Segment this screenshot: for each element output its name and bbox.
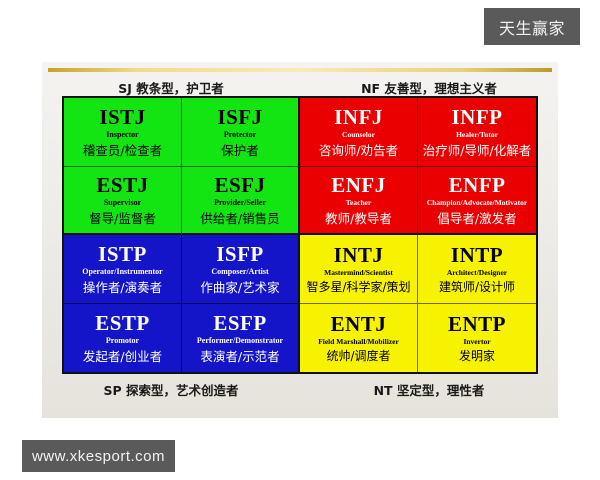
mbti-chart-card: SJ 教条型，护卫者 NF 友善型，理想主义者 ISTJInspector稽查员…: [42, 62, 558, 418]
mbti-cell-enfp[interactable]: ENFPChampion/Advocate/Motivator倡导者/激发者: [418, 167, 536, 236]
mbti-cell-esfp[interactable]: ESFPPerformer/Demonstrator表演者/示范者: [182, 304, 300, 373]
mbti-role-zh: 作曲家/艺术家: [200, 281, 279, 295]
mbti-type-matrix: ISTJInspector稽查员/检查者ISFJProtector保护者INFJ…: [62, 96, 538, 374]
mbti-code: INFJ: [334, 106, 383, 128]
mbti-cell-isfj[interactable]: ISFJProtector保护者: [182, 98, 300, 167]
mbti-role-zh: 统帅/调度者: [326, 350, 390, 363]
mbti-code: ESFP: [213, 312, 266, 334]
mbti-role-zh: 倡导者/激发者: [437, 212, 516, 226]
mbti-code: ISTP: [98, 243, 147, 265]
mbti-role-zh: 建筑师/设计师: [439, 281, 515, 294]
mbti-code: ESTJ: [96, 174, 148, 196]
mbti-cell-enfj[interactable]: ENFJTeacher教师/教导者: [300, 167, 418, 236]
mbti-code: INTP: [451, 244, 503, 266]
mbti-code: ISTJ: [99, 106, 145, 128]
group-header-nt: NT 坚定型，理性者: [300, 380, 558, 402]
mbti-role-zh: 咨询师/劝告者: [319, 144, 398, 158]
mbti-cell-intp[interactable]: INTPArchitect/Designer建筑师/设计师: [418, 235, 536, 304]
mbti-code: ISFP: [216, 243, 264, 265]
mbti-role-en: Champion/Advocate/Motivator: [427, 199, 527, 207]
group-header-row-bottom: SP 探索型，艺术创造者 NT 坚定型，理性者: [42, 380, 558, 402]
mbti-role-zh: 保护者: [221, 144, 259, 158]
mbti-role-zh: 表演者/示范者: [200, 350, 279, 364]
mbti-role-en: Supervisor: [104, 199, 141, 208]
mbti-role-zh: 智多星/科学家/策划: [306, 281, 410, 294]
mbti-code: ENTJ: [331, 313, 387, 335]
mbti-cell-infp[interactable]: INFPHealer/Tutor治疗师/导师/化解者: [418, 98, 536, 167]
mbti-cell-entp[interactable]: ENTPInvertor发明家: [418, 304, 536, 373]
mbti-cell-istj[interactable]: ISTJInspector稽查员/检查者: [64, 98, 182, 167]
mbti-role-en: Protector: [224, 131, 256, 140]
mbti-cell-intj[interactable]: INTJMastermind/Scientist智多星/科学家/策划: [300, 235, 418, 304]
mbti-code: INTJ: [334, 244, 384, 266]
mbti-role-zh: 操作者/演奏者: [83, 281, 162, 295]
group-header-sp: SP 探索型，艺术创造者: [42, 380, 300, 402]
mbti-cell-istp[interactable]: ISTPOperator/Instrumentor操作者/演奏者: [64, 235, 182, 304]
mbti-cell-esfj[interactable]: ESFJProvider/Seller供给者/销售员: [182, 167, 300, 236]
gold-accent-bar: [48, 68, 552, 72]
mbti-role-zh: 发明家: [459, 350, 495, 363]
mbti-code: ENFJ: [331, 174, 386, 196]
mbti-code: ENTP: [448, 313, 506, 335]
mbti-code: ESFJ: [214, 174, 265, 196]
mbti-cell-infj[interactable]: INFJCounselor咨询师/劝告者: [300, 98, 418, 167]
mbti-role-en: Performer/Demonstrator: [197, 337, 283, 346]
mbti-role-en: Promotor: [106, 337, 139, 346]
mbti-role-zh: 发起者/创业者: [83, 350, 162, 364]
mbti-role-en: Field Marshall/Mobilizer: [318, 338, 399, 346]
watermark-top-right: 天生赢家: [484, 8, 580, 45]
mbti-role-zh: 供给者/销售员: [200, 212, 279, 226]
mbti-role-en: Invertor: [463, 338, 490, 346]
mbti-cell-estp[interactable]: ESTPPromotor发起者/创业者: [64, 304, 182, 373]
mbti-role-en: Healer/Tutor: [456, 131, 498, 139]
mbti-role-en: Provider/Seller: [214, 199, 266, 208]
mbti-role-zh: 教师/教导者: [325, 212, 392, 226]
mbti-role-en: Mastermind/Scientist: [324, 269, 393, 277]
mbti-cell-entj[interactable]: ENTJField Marshall/Mobilizer统帅/调度者: [300, 304, 418, 373]
mbti-role-en: Architect/Designer: [447, 269, 507, 277]
mbti-role-en: Composer/Artist: [211, 268, 268, 277]
mbti-code: ISFJ: [217, 106, 262, 128]
mbti-role-en: Operator/Instrumentor: [82, 268, 162, 277]
mbti-role-en: Counselor: [342, 131, 375, 139]
mbti-cell-isfp[interactable]: ISFPComposer/Artist作曲家/艺术家: [182, 235, 300, 304]
mbti-role-zh: 督导/监督者: [89, 212, 156, 226]
mbti-role-zh: 稽查员/检查者: [83, 144, 162, 158]
mbti-code: INFP: [452, 106, 503, 128]
mbti-role-zh: 治疗师/导师/化解者: [423, 144, 531, 158]
watermark-bottom-left: www.xkesport.com: [22, 440, 175, 472]
mbti-code: ESTP: [95, 312, 150, 334]
mbti-code: ENFP: [449, 174, 506, 196]
mbti-cell-estj[interactable]: ESTJSupervisor督导/监督者: [64, 167, 182, 236]
mbti-role-en: Teacher: [346, 199, 372, 207]
mbti-role-en: Inspector: [106, 131, 138, 140]
